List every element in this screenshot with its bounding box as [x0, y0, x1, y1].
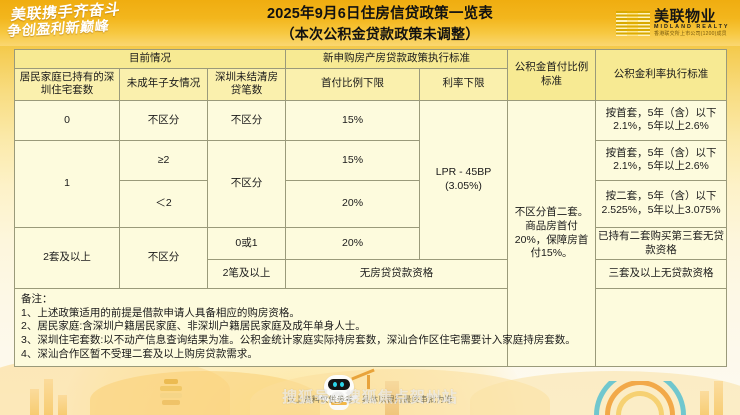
cell-loans-r1: 不区分: [208, 100, 286, 140]
header-fund-downpayment: 公积金首付比例标准: [508, 50, 596, 101]
logo-name-en: MIDLAND REALTY: [654, 25, 730, 31]
policy-table: 目前情况 新申购房产房贷款政策执行标准 公积金首付比例标准 公积金利率执行标准 …: [14, 49, 727, 367]
cell-downpayment-r1: 15%: [286, 100, 420, 140]
header-fund-rate: 公积金利率执行标准: [596, 50, 727, 101]
header-minor-children: 未成年子女情况: [120, 68, 208, 100]
midland-logo-mark-icon: [616, 11, 650, 36]
cell-downpayment-r3a: 20%: [286, 227, 420, 259]
logo-text-block: 美联物业 MIDLAND REALTY 香港联交所上市公司(1200)成员: [654, 9, 730, 37]
company-logo: 美联物业 MIDLAND REALTY 香港联交所上市公司(1200)成员: [616, 4, 734, 42]
cell-owned-2plus: 2套及以上: [15, 227, 120, 288]
note-item-2: 2、居民家庭:含深圳户籍居民家庭、非深圳户籍居民家庭及成年单身人士。: [21, 320, 720, 334]
notes-title: 备注：: [21, 293, 720, 307]
notes-block: 备注： 1、上述政策适用的前提是借款申请人具备相应的购房资格。 2、居民家庭:含…: [15, 289, 727, 367]
crane-icon: [351, 371, 377, 391]
table-row: 2套及以上 不区分 0或1 20% 已持有二套购买第三套无贷款资格: [15, 227, 727, 259]
header-rate-floor: 利率下限: [420, 68, 508, 100]
cell-owned-1: 1: [15, 140, 120, 227]
cell-owned-0: 0: [15, 100, 120, 140]
cell-children-r3: 不区分: [120, 227, 208, 288]
note-item-4: 4、深汕合作区暂不受理二套及以上购房贷款需求。: [21, 348, 720, 362]
logo-name-cn: 美联物业: [654, 9, 730, 25]
header-current-situation: 目前情况: [15, 50, 286, 69]
table-row: 1 ≥2 不区分 15% 按首套，5年（含）以下2.1%，5年以上2.6%: [15, 140, 727, 180]
page-title: 2025年9月6日住房信贷政策一览表 （本次公积金贷款政策未调整）: [170, 5, 590, 43]
calligraphy-slogan: 美联携手齐奋斗 争创盈利新巅峰: [5, 0, 160, 49]
cell-no-qualification: 无房贷贷款资格: [286, 260, 508, 289]
header-new-mortgage-standard: 新申购房产房贷款政策执行标准: [286, 50, 508, 69]
title-line-2: （本次公积金贷款政策未调整）: [170, 25, 590, 44]
table-notes-row: 备注： 1、上述政策适用的前提是借款申请人具备相应的购房资格。 2、居民家庭:含…: [15, 289, 727, 367]
rate-floor-line-2: (3.05%): [422, 180, 505, 194]
hill-shape-4: [470, 371, 740, 415]
cell-downpayment-r2a: 15%: [286, 140, 420, 180]
cell-fund-rate-r2b: 按二套，5年（含）以下2.525%，5年以上3.075%: [596, 180, 727, 227]
rate-floor-line-1: LPR - 45BP: [422, 166, 505, 180]
cell-fund-rate-r3b: 三套及以上无贷款资格: [596, 260, 727, 289]
note-item-3: 3、深圳住宅套数:以不动产信息查询结果为准。公积金统计家庭实际持房套数，深汕合作…: [21, 334, 720, 348]
table-row: 0 不区分 不区分 15% LPR - 45BP (3.05%) 不区分首二套。…: [15, 100, 727, 140]
hill-shape-2: [90, 371, 320, 415]
title-line-1: 2025年9月6日住房信贷政策一览表: [170, 5, 590, 25]
cell-children-r1: 不区分: [120, 100, 208, 140]
cell-loans-r3a: 0或1: [208, 227, 286, 259]
cell-fund-rate-r2a: 按首套，5年（含）以下2.1%，5年以上2.6%: [596, 140, 727, 180]
header-unsettled-loans: 深圳未结清房贷笔数: [208, 68, 286, 100]
cell-loans-r3b: 2笔及以上: [208, 260, 286, 289]
policy-infographic: 美联携手齐奋斗 争创盈利新巅峰 2025年9月6日住房信贷政策一览表 （本次公积…: [0, 0, 740, 415]
hill-shape-3: [250, 369, 550, 415]
cell-downpayment-r2b: 20%: [286, 180, 420, 227]
policy-table-wrapper: 目前情况 新申购房产房贷款政策执行标准 公积金首付比例标准 公积金利率执行标准 …: [14, 49, 726, 367]
cell-children-r2a: ≥2: [120, 140, 208, 180]
logo-subtitle: 香港联交所上市公司(1200)成员: [654, 32, 730, 37]
header-owned-units: 居民家庭已持有的深圳住宅套数: [15, 68, 120, 100]
table-row: ＜2 20% 按二套，5年（含）以下2.525%，5年以上3.075%: [15, 180, 727, 227]
table-group-header-row: 目前情况 新申购房产房贷款政策执行标准 公积金首付比例标准 公积金利率执行标准: [15, 50, 727, 69]
cell-rate-floor: LPR - 45BP (3.05%): [420, 100, 508, 259]
cell-children-r2b: ＜2: [120, 180, 208, 227]
cell-loans-r2: 不区分: [208, 140, 286, 227]
header-downpayment-floor: 首付比例下限: [286, 68, 420, 100]
footer-disclaimer: 以上资料仅供参考，具体以银行最终审批为准: [0, 394, 740, 405]
cell-fund-rate-r3a: 已持有二套购买第三套无贷款资格: [596, 227, 727, 259]
cell-fund-rate-r1: 按首套，5年（含）以下2.1%，5年以上2.6%: [596, 100, 727, 140]
note-item-1: 1、上述政策适用的前提是借款申请人具备相应的购房资格。: [21, 307, 720, 321]
